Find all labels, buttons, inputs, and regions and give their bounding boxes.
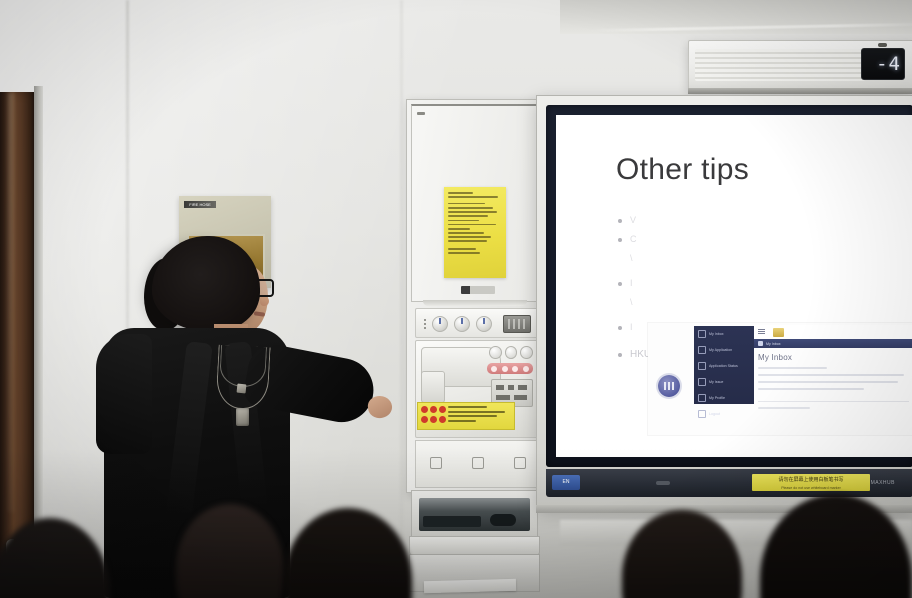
page-title: My Inbox xyxy=(758,353,792,362)
bullet-dot-icon xyxy=(618,326,622,330)
ac-display-value: -4 xyxy=(876,55,901,74)
av-equipment-cabinet[interactable] xyxy=(406,99,549,493)
list-item: \ xyxy=(630,251,898,266)
presenter-hair xyxy=(152,236,260,332)
cabinet-hinge xyxy=(417,112,425,115)
equipment-status-display xyxy=(503,315,531,333)
sidebar-item-label: My Issue xyxy=(709,380,723,384)
ac-temperature-display: -4 xyxy=(861,48,905,80)
sidebar-item-my-application: My Application xyxy=(694,342,754,358)
necklace-pendant-small xyxy=(237,384,247,394)
sidebar-item-application-status: Application Status xyxy=(694,358,754,374)
classroom-photo-scene: FIRE HOSE xyxy=(0,0,912,598)
embedded-app-screenshot: My Inbox My Application Application Stat… xyxy=(648,323,912,435)
bullet-text: \ xyxy=(630,295,633,310)
bullet-dot-icon xyxy=(618,353,622,357)
visualizer-indicator-row xyxy=(487,363,533,374)
bullet-dot-icon xyxy=(618,238,622,242)
university-crest-icon xyxy=(773,328,784,337)
content-divider xyxy=(758,401,909,402)
logout-icon xyxy=(698,410,706,418)
cabinet-door-gap xyxy=(423,300,527,306)
control-knob-3[interactable] xyxy=(476,316,492,332)
app-sidebar: My Inbox My Application Application Stat… xyxy=(694,326,754,404)
breadcrumb: My Inbox xyxy=(754,339,912,348)
sidebar-item-label: Logout xyxy=(709,412,720,416)
foreground-shadow xyxy=(0,448,912,598)
list-item: V xyxy=(618,213,898,228)
bullet-dot-icon xyxy=(618,282,622,286)
bullet-text: I xyxy=(630,276,633,291)
ac-vent-louvers xyxy=(695,49,865,81)
display-screen[interactable]: Other tips V C \ xyxy=(556,115,912,457)
bullet-text: \ xyxy=(630,251,633,266)
safety-warning-label xyxy=(417,402,515,430)
necklace-pendant-large xyxy=(236,408,249,426)
presenter-hand xyxy=(367,394,394,419)
inbox-icon xyxy=(698,330,706,338)
bullet-text: C xyxy=(630,232,637,247)
sidebar-item-label: My Inbox xyxy=(709,332,724,336)
cabinet-door[interactable] xyxy=(411,104,538,302)
sidebar-item-logout: Logout xyxy=(694,406,754,422)
app-top-bar xyxy=(754,325,912,339)
presentation-slide: Other tips V C \ xyxy=(556,115,912,457)
sidebar-item-my-inbox: My Inbox xyxy=(694,326,754,342)
user-icon xyxy=(698,394,706,402)
air-conditioner-unit: -4 xyxy=(688,40,912,90)
list-item: \ xyxy=(630,295,898,310)
visualizer-head xyxy=(421,371,445,403)
control-knob-1[interactable] xyxy=(432,316,448,332)
document-icon xyxy=(698,346,706,354)
sidebar-item-my-issue: My Issue xyxy=(694,374,754,390)
equipment-control-strip[interactable] xyxy=(415,308,539,338)
sidebar-item-my-profile: My Profile xyxy=(694,390,754,406)
visualizer-button-row[interactable] xyxy=(489,346,533,359)
hamburger-menu-icon xyxy=(758,329,765,335)
hku-circular-logo xyxy=(658,375,680,397)
cabinet-brand-plate xyxy=(461,286,495,294)
sidebar-item-label: My Profile xyxy=(709,396,725,400)
display-bezel: Other tips V C \ xyxy=(546,105,912,467)
list-item: C xyxy=(618,232,898,247)
interactive-smart-display[interactable]: Other tips V C \ xyxy=(536,95,912,507)
cardigan-left-shoulder xyxy=(96,334,152,454)
breadcrumb-label: My Inbox xyxy=(766,342,781,346)
page-footer-text xyxy=(758,407,810,409)
bullet-dot-icon xyxy=(618,219,622,223)
page-body-text xyxy=(758,367,909,395)
control-knob-2[interactable] xyxy=(454,316,470,332)
sidebar-item-label: My Application xyxy=(709,348,732,352)
status-icon xyxy=(698,362,706,370)
instruction-sheet xyxy=(444,187,506,278)
sidebar-item-label: Application Status xyxy=(709,364,738,368)
wall-panel-label: FIRE HOSE xyxy=(184,201,216,208)
list-item: I xyxy=(618,276,898,291)
bullet-text: V xyxy=(630,213,636,228)
presenter-nose xyxy=(260,296,269,306)
home-icon xyxy=(758,341,763,346)
slide-title: Other tips xyxy=(616,153,749,187)
ac-mounting-base xyxy=(688,88,912,94)
ac-ir-sensor xyxy=(878,43,887,47)
calendar-icon xyxy=(698,378,706,386)
bullet-text: I xyxy=(630,320,633,335)
